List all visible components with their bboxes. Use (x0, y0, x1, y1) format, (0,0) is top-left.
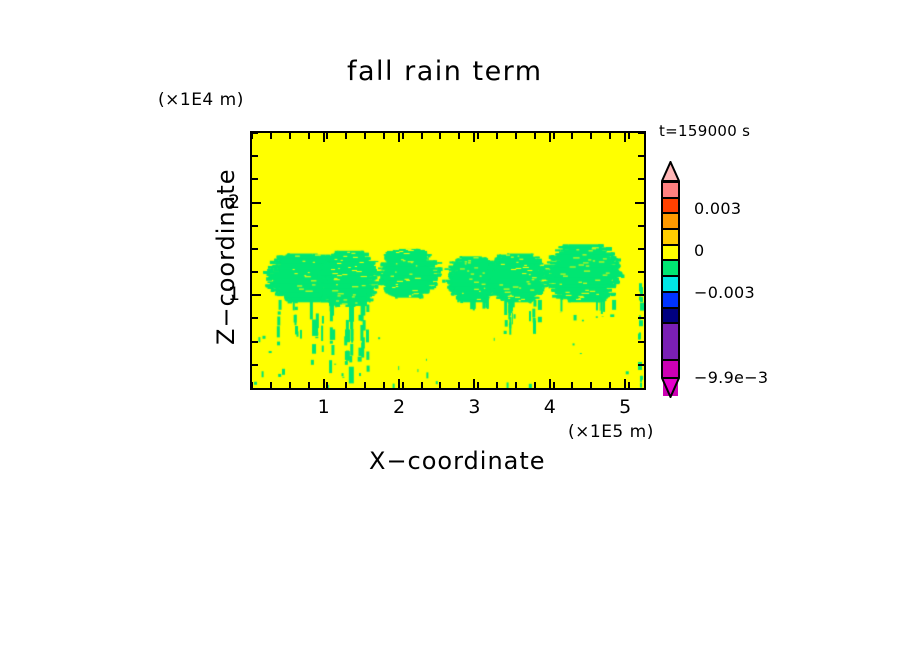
x-tick-minor (308, 382, 310, 388)
x-tick-minor (553, 382, 555, 388)
y-tick-minor (252, 248, 258, 250)
y-tick-minor-right (638, 248, 644, 250)
x-tick-minor-top (270, 133, 272, 139)
x-tick-minor-top (609, 133, 611, 139)
y-tick-major-right (635, 294, 644, 296)
x-tick-label: 2 (393, 396, 405, 418)
x-tick-major-top (624, 133, 626, 142)
plot-area[interactable] (250, 131, 646, 390)
x-tick-minor-top (515, 133, 517, 139)
x-tick-major (323, 379, 325, 388)
colorbar-band (663, 183, 678, 197)
x-tick-minor-top (308, 133, 310, 139)
x-tick-minor (345, 382, 347, 388)
y-tick-major-right (635, 202, 644, 204)
x-tick-major (398, 379, 400, 388)
x-tick-minor (251, 382, 253, 388)
y-tick-minor (252, 271, 258, 273)
x-tick-label: 3 (468, 396, 480, 418)
x-tick-minor-top (477, 133, 479, 139)
x-tick-minor (383, 382, 385, 388)
y-tick-label: 1 (228, 283, 240, 305)
colorbar-tick-label: −9.9e−3 (694, 368, 768, 387)
colorbar[interactable] (661, 181, 680, 378)
y-tick-minor (252, 132, 258, 134)
x-tick-major (549, 379, 551, 388)
x-tick-minor (364, 382, 366, 388)
y-tick-minor-right (638, 364, 644, 366)
y-tick-major (252, 202, 261, 204)
x-tick-minor-top (439, 133, 441, 139)
y-tick-minor-right (638, 225, 644, 227)
colorbar-extend-top-arrow (661, 161, 680, 182)
x-tick-minor (458, 382, 460, 388)
x-tick-minor (326, 382, 328, 388)
x-axis-title: X−coordinate (369, 447, 546, 475)
colorbar-band (663, 212, 678, 228)
colorbar-tick-label: 0.003 (694, 199, 741, 218)
x-tick-minor (628, 382, 630, 388)
x-tick-major (473, 379, 475, 388)
heatmap-canvas (252, 133, 644, 388)
x-tick-minor-top (289, 133, 291, 139)
colorbar-tick-label: 0 (694, 241, 704, 260)
y-axis-unit-label: (×1E4 m) (158, 90, 244, 110)
x-tick-minor-top (628, 133, 630, 139)
colorbar-band (663, 228, 678, 244)
colorbar-band (663, 244, 678, 260)
y-tick-minor (252, 341, 258, 343)
x-tick-minor (534, 382, 536, 388)
x-tick-major-top (323, 133, 325, 142)
x-tick-minor (571, 382, 573, 388)
colorbar-band (663, 322, 678, 359)
chart-title: fall rain term (347, 56, 747, 87)
colorbar-band (663, 307, 678, 323)
x-tick-major (624, 379, 626, 388)
x-tick-minor-top (553, 133, 555, 139)
y-tick-minor-right (638, 178, 644, 180)
colorbar-extend-bottom-arrow (661, 377, 680, 398)
y-tick-minor-right (638, 155, 644, 157)
x-tick-label: 1 (318, 396, 330, 418)
x-tick-minor (609, 382, 611, 388)
x-tick-label: 4 (544, 396, 556, 418)
colorbar-band (663, 275, 678, 291)
y-tick-minor (252, 155, 258, 157)
x-tick-minor-top (383, 133, 385, 139)
x-tick-major-top (549, 133, 551, 142)
x-tick-minor (496, 382, 498, 388)
y-tick-minor (252, 364, 258, 366)
x-tick-minor (477, 382, 479, 388)
x-tick-minor-top (345, 133, 347, 139)
y-tick-minor (252, 225, 258, 227)
x-tick-minor (270, 382, 272, 388)
colorbar-band (663, 259, 678, 275)
x-tick-minor (421, 382, 423, 388)
y-tick-minor-right (638, 271, 644, 273)
y-tick-minor (252, 178, 258, 180)
x-tick-minor-top (496, 133, 498, 139)
time-annotation: t=159000 s (659, 122, 750, 140)
x-tick-minor (402, 382, 404, 388)
x-axis-unit-label: (×1E5 m) (568, 422, 654, 442)
x-tick-minor-top (571, 133, 573, 139)
colorbar-band (663, 291, 678, 307)
x-tick-minor-top (364, 133, 366, 139)
y-tick-minor-right (638, 341, 644, 343)
x-tick-minor (590, 382, 592, 388)
x-tick-minor-top (534, 133, 536, 139)
x-tick-minor-top (326, 133, 328, 139)
x-tick-label: 5 (619, 396, 631, 418)
y-tick-label: 2 (228, 191, 240, 213)
x-tick-minor-top (402, 133, 404, 139)
x-tick-minor (289, 382, 291, 388)
y-tick-minor-right (638, 132, 644, 134)
x-tick-minor-top (590, 133, 592, 139)
y-tick-major (252, 294, 261, 296)
x-tick-minor (515, 382, 517, 388)
x-tick-major-top (473, 133, 475, 142)
colorbar-band (663, 197, 678, 213)
colorbar-tick-label: −0.003 (694, 283, 755, 302)
x-tick-minor (439, 382, 441, 388)
y-tick-minor (252, 317, 258, 319)
x-tick-major-top (398, 133, 400, 142)
x-tick-minor-top (458, 133, 460, 139)
x-tick-minor-top (421, 133, 423, 139)
y-tick-minor-right (638, 317, 644, 319)
